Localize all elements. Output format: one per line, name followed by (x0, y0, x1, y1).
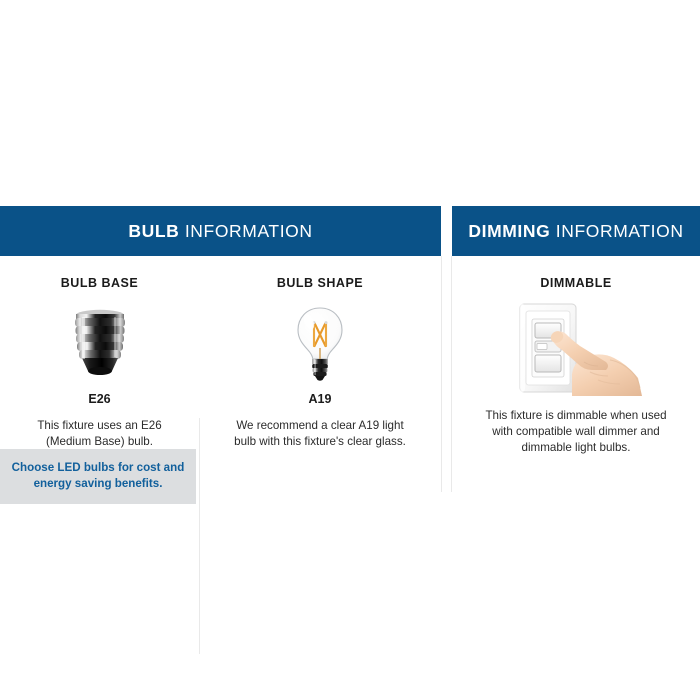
a19-lightbulb-icon (294, 306, 346, 382)
bulb-base-figure (0, 304, 199, 384)
bulb-shape-label: A19 (199, 392, 441, 406)
led-tip-text: Choose LED bulbs for cost and energy sav… (6, 460, 190, 492)
divider-panel-right-edge (451, 256, 452, 492)
bulb-shape-description: We recommend a clear A19 light bulb with… (224, 418, 416, 450)
bulb-header-rest: INFORMATION (179, 221, 312, 241)
bulb-base-column: BULB BASE (0, 256, 199, 450)
bulb-shape-heading: BULB SHAPE (199, 276, 441, 290)
divider-bulb-columns (199, 418, 200, 654)
bulb-base-heading: BULB BASE (0, 276, 199, 290)
divider-panel-left-edge (441, 256, 442, 492)
lightbulb-base-icon (69, 308, 131, 380)
dimmable-column: DIMMABLE (452, 256, 700, 456)
dimming-information-title: DIMMING INFORMATION (468, 221, 683, 242)
dimmable-figure (452, 300, 700, 396)
wall-dimmer-switch-icon (510, 300, 642, 396)
bulb-shape-column: BULB SHAPE (199, 256, 441, 450)
dimmable-heading: DIMMABLE (452, 276, 700, 290)
dimming-information-panel: DIMMING INFORMATION DIMMABLE (452, 206, 700, 456)
bulb-header-strong: BULB (128, 221, 179, 241)
dimming-information-header: DIMMING INFORMATION (452, 206, 700, 256)
bulb-base-description: This fixture uses an E26 (Medium Base) b… (19, 418, 181, 450)
bulb-information-header: BULB INFORMATION (0, 206, 441, 256)
bulb-information-panel: BULB INFORMATION BULB BASE (0, 206, 441, 450)
bulb-base-label: E26 (0, 392, 199, 406)
dimmable-description: This fixture is dimmable when used with … (478, 408, 674, 456)
bulb-columns: BULB BASE (0, 256, 441, 450)
bulb-information-title: BULB INFORMATION (128, 221, 312, 242)
dimming-header-strong: DIMMING (468, 221, 550, 241)
dimming-header-rest: INFORMATION (550, 221, 683, 241)
led-tip-callout: Choose LED bulbs for cost and energy sav… (0, 449, 196, 504)
bulb-shape-figure (199, 304, 441, 384)
